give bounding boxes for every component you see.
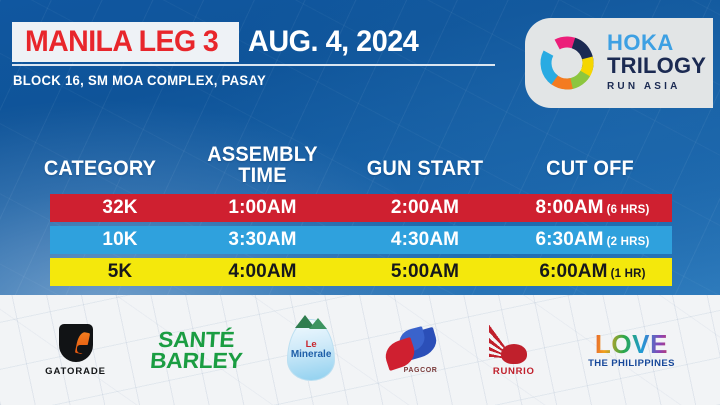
sponsor-le-minerale: Le Minerale <box>287 312 335 388</box>
sante-line2: BARLEY <box>150 350 244 371</box>
sante-line1: SANTÉ <box>150 329 244 350</box>
column-header-gun-start: GUN START <box>349 158 501 179</box>
pagcor-swoosh-icon: PAGCOR <box>381 327 439 373</box>
poster-header: MANILA LEG 3 AUG. 4, 2024 BLOCK 16, SM M… <box>0 0 720 112</box>
schedule-table-body: 32K 1:00AM 2:00AM 8:00AM(6 HRS) 10K 3:30… <box>50 194 672 290</box>
love-line2: THE PHILIPPINES <box>588 359 675 369</box>
sponsor-pagcor-label: PAGCOR <box>404 367 438 374</box>
cell-gun-start: 2:00AM <box>345 194 505 222</box>
hoka-trilogy-logo: HOKA TRILOGY RUN ASIA <box>525 18 713 108</box>
title-underline <box>12 64 495 66</box>
logo-wordmark: HOKA TRILOGY RUN ASIA <box>607 32 706 94</box>
sponsor-pagcor: PAGCOR <box>381 312 439 388</box>
table-row: 32K 1:00AM 2:00AM 8:00AM(6 HRS) <box>50 194 672 222</box>
venue-text: BLOCK 16, SM MOA COMPLEX, PASAY <box>13 73 266 88</box>
schedule-table-header: CATEGORY ASSEMBLY TIME GUN START CUT OFF <box>0 143 720 185</box>
column-header-assembly-line2: TIME <box>179 165 345 186</box>
event-poster: MANILA LEG 3 AUG. 4, 2024 BLOCK 16, SM M… <box>0 0 720 405</box>
water-droplet-icon: Le Minerale <box>287 319 335 381</box>
love-philippines-wordmark: LOVE THE PHILIPPINES <box>588 331 675 369</box>
cell-assembly-time: 3:30AM <box>175 226 350 254</box>
sponsor-bar: GATORADE SANTÉ BARLEY Le Minerale PAGCOR <box>0 295 720 405</box>
logo-hoka-text: HOKA <box>607 32 706 54</box>
column-header-cut-off: CUT OFF <box>514 158 666 179</box>
table-row: 10K 3:30AM 4:30AM 6:30AM(2 HRS) <box>50 226 672 254</box>
sponsor-runrio-label: RUNRIO <box>486 366 542 377</box>
logo-runasia-text: RUN ASIA <box>607 79 706 94</box>
trilogy-ring-icon <box>536 32 598 94</box>
cell-cut-off-duration: (2 HRS) <box>607 236 650 248</box>
cell-cut-off-duration: (6 HRS) <box>607 204 650 216</box>
sponsor-gatorade: GATORADE <box>45 312 106 388</box>
cell-cut-off: 8:00AM(6 HRS) <box>505 194 680 222</box>
sponsor-gatorade-label: GATORADE <box>45 366 106 377</box>
sponsor-sante-barley: SANTÉ BARLEY <box>152 312 241 388</box>
leg-title: MANILA LEG 3 <box>25 27 218 57</box>
cell-category: 5K <box>50 258 190 286</box>
cell-category: 10K <box>50 226 190 254</box>
table-row: 5K 4:00AM 5:00AM 6:00AM(1 HR) <box>50 258 672 286</box>
love-line1: LOVE <box>588 331 675 357</box>
column-header-assembly-time: ASSEMBLY TIME <box>179 144 345 187</box>
sponsor-runrio: RUNRIO <box>486 312 542 388</box>
logo-trilogy-text: TRILOGY <box>607 54 706 79</box>
cell-gun-start: 4:30AM <box>345 226 505 254</box>
cell-cut-off-time: 8:00AM <box>535 197 603 218</box>
cell-cut-off-time: 6:00AM <box>539 261 607 282</box>
runrio-sunburst-icon: RUNRIO <box>486 325 542 375</box>
sponsor-love-the-philippines: LOVE THE PHILIPPINES <box>588 312 675 388</box>
cell-gun-start: 5:00AM <box>345 258 505 286</box>
event-date: AUG. 4, 2024 <box>248 22 418 62</box>
sante-barley-wordmark: SANTÉ BARLEY <box>152 329 241 371</box>
cell-cut-off-duration: (1 HR) <box>611 268 646 280</box>
leg-title-plate: MANILA LEG 3 <box>12 22 239 62</box>
cell-category: 32K <box>50 194 190 222</box>
cell-cut-off-time: 6:30AM <box>535 229 603 250</box>
title-row: MANILA LEG 3 AUG. 4, 2024 <box>12 22 426 62</box>
cell-assembly-time: 1:00AM <box>175 194 350 222</box>
cell-cut-off: 6:30AM(2 HRS) <box>505 226 680 254</box>
cell-assembly-time: 4:00AM <box>175 258 350 286</box>
column-header-category: CATEGORY <box>15 158 186 179</box>
cell-cut-off: 6:00AM(1 HR) <box>505 258 680 286</box>
minerale-line2: Minerale <box>291 349 332 360</box>
gatorade-bolt-icon <box>59 324 93 362</box>
runrio-head <box>501 344 527 364</box>
column-header-assembly-line1: ASSEMBLY <box>179 144 345 165</box>
minerale-line1: Le <box>306 340 317 350</box>
